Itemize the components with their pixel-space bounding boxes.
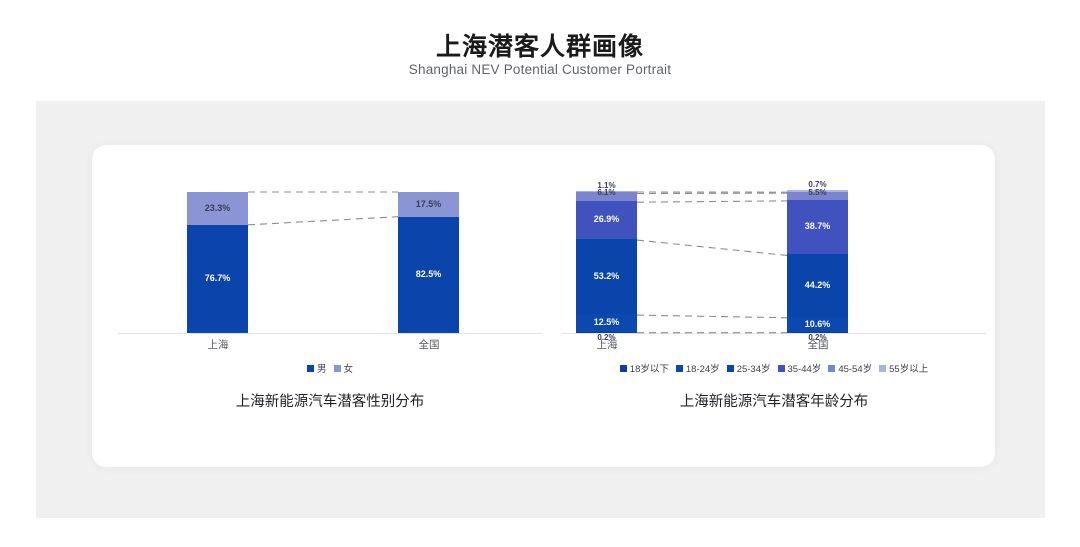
legend-swatch-icon [778,365,785,372]
age-tick-shanghai: 上海 [562,337,652,352]
legend-swatch-icon [676,365,683,372]
legend-label: 25-34岁 [737,361,771,375]
bar-segment[interactable]: 26.9% [576,201,637,239]
connector-line [637,201,787,202]
chart-age-distribution: 1.1%6.1%26.9%53.2%12.5%0.2% 0.7%5.5%38.7… [554,145,994,467]
legend-swatch-icon [879,365,886,372]
legend-label: 18岁以下 [630,361,669,375]
gender-connector-bands [110,190,550,335]
legend-swatch-icon [727,365,734,372]
bar-segment-label: 53.2% [594,272,620,281]
age-tick-national: 全国 [773,337,863,352]
gender-bar-shanghai[interactable]: 23.3%76.7% [187,192,248,333]
legend-item[interactable]: 25-34岁 [727,361,771,375]
age-axis-line [562,333,986,334]
bar-segment[interactable]: 5.5% [787,192,848,200]
connector-line [637,240,787,255]
legend-label: 35-44岁 [788,361,822,375]
bar-segment-label: 38.7% [805,222,831,231]
age-chart-caption: 上海新能源汽车潜客年龄分布 [554,390,994,411]
legend-item[interactable]: 女 [334,361,354,375]
bar-segment-label: 12.5% [594,318,620,327]
legend-label: 55岁以上 [889,361,928,375]
connector-line [248,217,398,225]
gender-chart-caption: 上海新能源汽车潜客性别分布 [110,390,550,411]
gender-tick-national: 全国 [384,337,474,352]
charts-card: 23.3%76.7% 17.5%82.5% 上海 全国 男女 上海新能源汽车潜客… [92,145,995,467]
screenshot-root: 上海潜客人群画像 Shanghai NEV Potential Customer… [0,0,1080,547]
legend-swatch-icon [620,365,627,372]
bar-segment[interactable]: 38.7% [787,200,848,255]
bar-segment[interactable]: 76.7% [187,225,248,333]
bar-segment-label: 44.2% [805,281,831,290]
age-bar-shanghai[interactable]: 1.1%6.1%26.9%53.2%12.5%0.2% [576,191,637,333]
bar-segment[interactable]: 0.2% [787,332,848,334]
legend-item[interactable]: 55岁以上 [879,361,928,375]
legend-item[interactable]: 18岁以下 [620,361,669,375]
legend-label: 女 [344,361,354,375]
legend-label: 男 [317,361,327,375]
page-title: 上海潜客人群画像 [0,27,1080,63]
legend-swatch-icon [307,365,314,372]
bar-segment[interactable]: 23.3% [187,192,248,225]
gender-tick-shanghai: 上海 [173,337,263,352]
page-subtitle: Shanghai NEV Potential Customer Portrait [0,62,1080,77]
bar-segment-label: 5.5% [808,189,826,197]
legend-label: 18-24岁 [686,361,720,375]
age-bar-national[interactable]: 0.7%5.5%38.7%44.2%10.6%0.2% [787,190,848,333]
bar-segment-label: 17.5% [416,200,442,209]
legend-swatch-icon [334,365,341,372]
bar-segment-label: 10.6% [805,320,831,329]
bar-segment[interactable]: 82.5% [398,217,459,333]
age-plot-area: 1.1%6.1%26.9%53.2%12.5%0.2% 0.7%5.5%38.7… [554,190,994,335]
bar-segment-label: 6.1% [597,189,615,197]
bar-segment-label: 26.9% [594,215,620,224]
legend-item[interactable]: 男 [307,361,327,375]
gender-plot-area: 23.3%76.7% 17.5%82.5% [110,190,550,335]
bar-segment[interactable]: 44.2% [787,254,848,316]
gender-bar-national[interactable]: 17.5%82.5% [398,192,459,333]
gender-legend: 男女 [110,361,550,375]
bar-segment-label: 76.7% [205,274,231,283]
bar-segment[interactable]: 53.2% [576,239,637,314]
connector-line [637,315,787,318]
bar-segment-label: 82.5% [416,270,442,279]
bar-segment-label: 23.3% [205,204,231,213]
legend-swatch-icon [828,365,835,372]
bar-segment[interactable]: 12.5% [576,314,637,332]
age-legend: 18岁以下18-24岁25-34岁35-44岁45-54岁55岁以上 [554,361,994,375]
legend-item[interactable]: 35-44岁 [778,361,822,375]
bar-segment[interactable]: 10.6% [787,317,848,332]
legend-item[interactable]: 45-54岁 [828,361,872,375]
gender-axis-line [118,333,542,334]
bar-segment[interactable]: 17.5% [398,192,459,217]
legend-label: 45-54岁 [838,361,872,375]
bar-segment[interactable]: 6.1% [576,192,637,201]
legend-item[interactable]: 18-24岁 [676,361,720,375]
bar-segment[interactable]: 0.2% [576,332,637,334]
chart-gender-distribution: 23.3%76.7% 17.5%82.5% 上海 全国 男女 上海新能源汽车潜客… [110,145,550,467]
